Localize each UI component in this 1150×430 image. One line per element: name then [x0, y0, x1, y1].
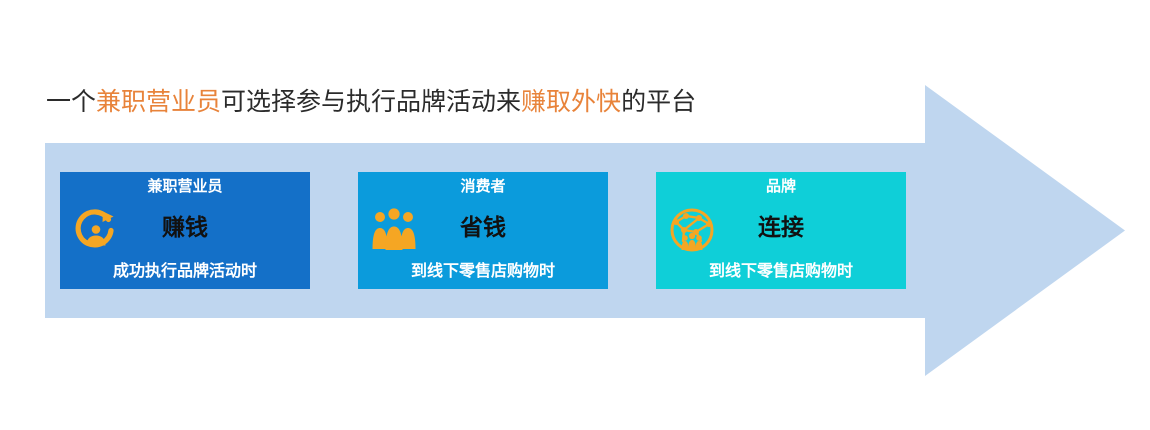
- card-consumer[interactable]: 消费者 省钱 到线下零售店购物时: [358, 172, 608, 289]
- card-title: 省钱: [358, 212, 608, 242]
- headline-segment-4-accent: 赚取外快: [521, 88, 621, 116]
- headline-segment-2-accent: 兼职营业员: [96, 88, 221, 116]
- card-label: 品牌: [656, 177, 906, 197]
- card-label: 消费者: [358, 177, 608, 197]
- card-label: 兼职营业员: [60, 177, 310, 197]
- card-part-time-promoter[interactable]: 兼职营业员 赚钱 成功执行品牌活动时: [60, 172, 310, 289]
- slide-canvas: 一个兼职营业员可选择参与执行品牌活动来赚取外快的平台 兼职营业员 赚钱 成功执行…: [0, 0, 1150, 430]
- card-caption: 成功执行品牌活动时: [60, 261, 310, 283]
- card-title: 赚钱: [60, 212, 310, 242]
- card-caption: 到线下零售店购物时: [358, 261, 608, 283]
- headline-segment-1: 一个: [46, 88, 96, 116]
- card-caption: 到线下零售店购物时: [656, 261, 906, 283]
- page-title: 一个兼职营业员可选择参与执行品牌活动来赚取外快的平台: [46, 86, 696, 118]
- headline-segment-5: 的平台: [621, 88, 696, 116]
- headline-segment-3: 可选择参与执行品牌活动来: [221, 88, 521, 116]
- card-brand[interactable]: 品牌: [656, 172, 906, 289]
- card-row: 兼职营业员 赚钱 成功执行品牌活动时 消费者: [60, 172, 906, 289]
- card-title: 连接: [656, 212, 906, 242]
